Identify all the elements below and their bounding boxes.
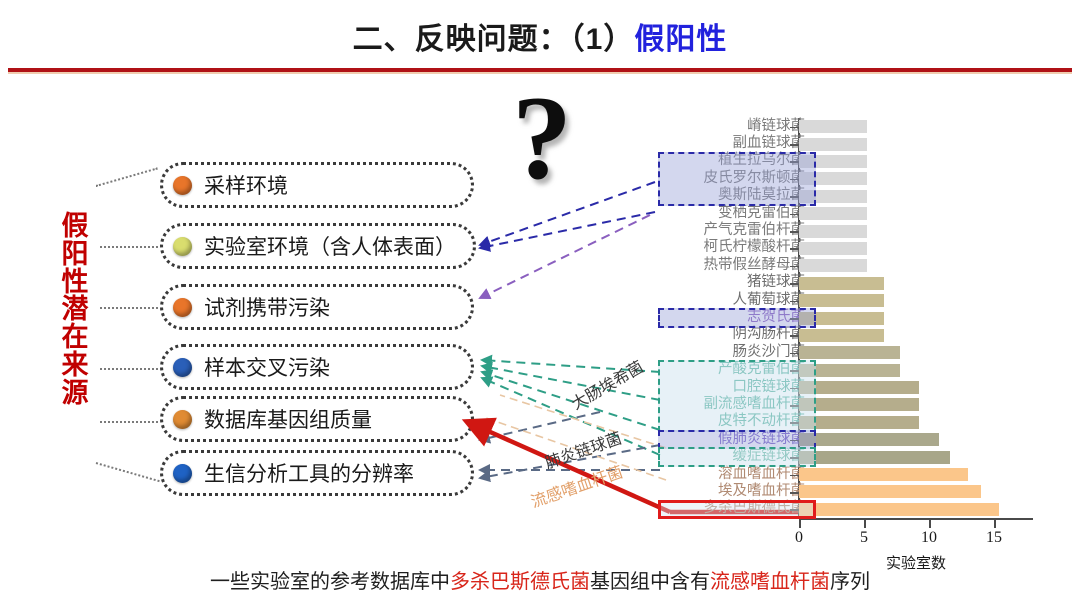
chart-y-tick bbox=[790, 248, 799, 250]
chart-bar bbox=[799, 312, 884, 325]
chart-category-label: 肠炎沙门菌 bbox=[635, 345, 805, 360]
chart-y-tick bbox=[790, 161, 799, 163]
chart-y-tick bbox=[790, 318, 799, 320]
chart-category-label: 埃及嗜血杆菌 bbox=[635, 484, 805, 499]
chart-category-label: 热带假丝酵母菌 bbox=[635, 258, 805, 273]
chart-bar bbox=[799, 364, 900, 377]
chart-bar bbox=[799, 433, 939, 446]
chart-y-tick bbox=[790, 214, 799, 216]
chart-x-tick bbox=[994, 520, 996, 528]
chart-bar bbox=[799, 398, 919, 411]
chart-bar bbox=[799, 485, 981, 498]
arrow-env-to-lab bbox=[480, 182, 655, 245]
chart-y-tick bbox=[790, 509, 799, 511]
chart-y-tick bbox=[790, 144, 799, 146]
chart-bar bbox=[799, 259, 867, 272]
chart-x-tick bbox=[864, 520, 866, 528]
chart-y-tick bbox=[790, 405, 799, 407]
chart-category-label: 副流感嗜血杆菌 bbox=[635, 397, 805, 412]
chart-bar bbox=[799, 294, 884, 307]
slide-canvas: 二、反映问题：（1）假阳性 假 阳 性 潜 在 来 源 采样环境 实验室环境（含… bbox=[0, 0, 1080, 608]
chart-y-tick bbox=[790, 179, 799, 181]
chart-y-tick bbox=[790, 231, 799, 233]
chart-bar bbox=[799, 225, 867, 238]
chart-category-label: 稙生拉乌尔菌 bbox=[635, 153, 805, 168]
caption-part3: 序列 bbox=[830, 571, 870, 593]
chart-bar bbox=[799, 242, 867, 255]
arrow-env-to-lab-2 bbox=[480, 212, 655, 248]
caption-part1: 一些实验室的参考数据库中 bbox=[210, 571, 450, 593]
chart-y-tick bbox=[790, 283, 799, 285]
chart-bar bbox=[799, 120, 867, 133]
chart-category-label: 猪链球菌 bbox=[635, 275, 805, 290]
chart-y-tick bbox=[790, 422, 799, 424]
chart-bar bbox=[799, 172, 867, 185]
chart-category-label: 产气克雷伯杆菌 bbox=[635, 223, 805, 238]
chart-y-tick bbox=[790, 353, 799, 355]
chart-bar bbox=[799, 155, 867, 168]
caption-highlight-pasteurella: 多杀巴斯德氏菌 bbox=[450, 571, 590, 593]
bar-chart: 嵴链球菌副血链球菌稙生拉乌尔菌皮氏罗尔斯顿菌奥斯陆莫拉菌变栖克雷伯菌产气克雷伯杆… bbox=[640, 118, 1060, 558]
chart-x-axis bbox=[799, 518, 1033, 520]
caption-part2: 基因组中含有 bbox=[590, 571, 710, 593]
chart-y-tick bbox=[790, 370, 799, 372]
chart-category-label: 假肺炎链球菌 bbox=[635, 432, 805, 447]
chart-bar bbox=[799, 207, 867, 220]
chart-bar bbox=[799, 138, 867, 151]
chart-category-label: 嵴链球菌 bbox=[635, 119, 805, 134]
chart-x-tick-label: 0 bbox=[795, 529, 803, 547]
chart-bar bbox=[799, 416, 919, 429]
chart-bar bbox=[799, 451, 950, 464]
chart-category-label: 溶血嗜血杆菌 bbox=[635, 467, 805, 482]
chart-y-tick bbox=[790, 388, 799, 390]
chart-category-label: 口腔链球菌 bbox=[635, 380, 805, 395]
chart-category-label: 副血链球菌 bbox=[635, 136, 805, 151]
chart-category-label: 皮氏罗尔斯顿菌 bbox=[635, 171, 805, 186]
chart-bar bbox=[799, 277, 884, 290]
chart-bar bbox=[799, 503, 999, 516]
chart-y-tick bbox=[790, 196, 799, 198]
chart-bar bbox=[799, 346, 900, 359]
chart-y-tick bbox=[790, 335, 799, 337]
chart-category-label: 柯氏柠檬酸杆菌 bbox=[635, 240, 805, 255]
chart-category-label: 奥斯陆莫拉菌 bbox=[635, 188, 805, 203]
chart-y-tick bbox=[790, 492, 799, 494]
chart-category-label: 志贺氏菌 bbox=[635, 310, 805, 325]
chart-x-tick bbox=[929, 520, 931, 528]
chart-y-tick bbox=[790, 266, 799, 268]
chart-bar bbox=[799, 381, 919, 394]
chart-category-label: 阴沟肠杆菌 bbox=[635, 327, 805, 342]
chart-x-tick-label: 5 bbox=[860, 529, 868, 547]
chart-bar bbox=[799, 190, 867, 203]
chart-bar bbox=[799, 329, 884, 342]
chart-category-label: 人葡萄球菌 bbox=[635, 293, 805, 308]
chart-bar bbox=[799, 468, 968, 481]
chart-y-tick bbox=[790, 127, 799, 129]
chart-y-tick bbox=[790, 457, 799, 459]
chart-category-label: 产酸克雷伯菌 bbox=[635, 362, 805, 377]
chart-category-label: 皮特不动杆菌 bbox=[635, 414, 805, 429]
arrow-env-to-reagent bbox=[480, 215, 650, 298]
chart-category-label: 缓症链球菌 bbox=[635, 449, 805, 464]
chart-x-tick-label: 15 bbox=[986, 529, 1002, 547]
chart-y-tick bbox=[790, 440, 799, 442]
caption-highlight-haemophilus: 流感嗜血杆菌 bbox=[710, 571, 830, 593]
chart-x-tick-label: 10 bbox=[921, 529, 937, 547]
slide-caption: 一些实验室的参考数据库中多杀巴斯德氏菌基因组中含有流感嗜血杆菌序列 bbox=[0, 565, 1080, 594]
chart-category-label: 多杀巴斯德氏菌 bbox=[635, 501, 805, 516]
chart-y-tick bbox=[790, 301, 799, 303]
chart-x-tick bbox=[799, 520, 801, 528]
chart-category-label: 变栖克雷伯菌 bbox=[635, 206, 805, 221]
chart-y-tick bbox=[790, 475, 799, 477]
